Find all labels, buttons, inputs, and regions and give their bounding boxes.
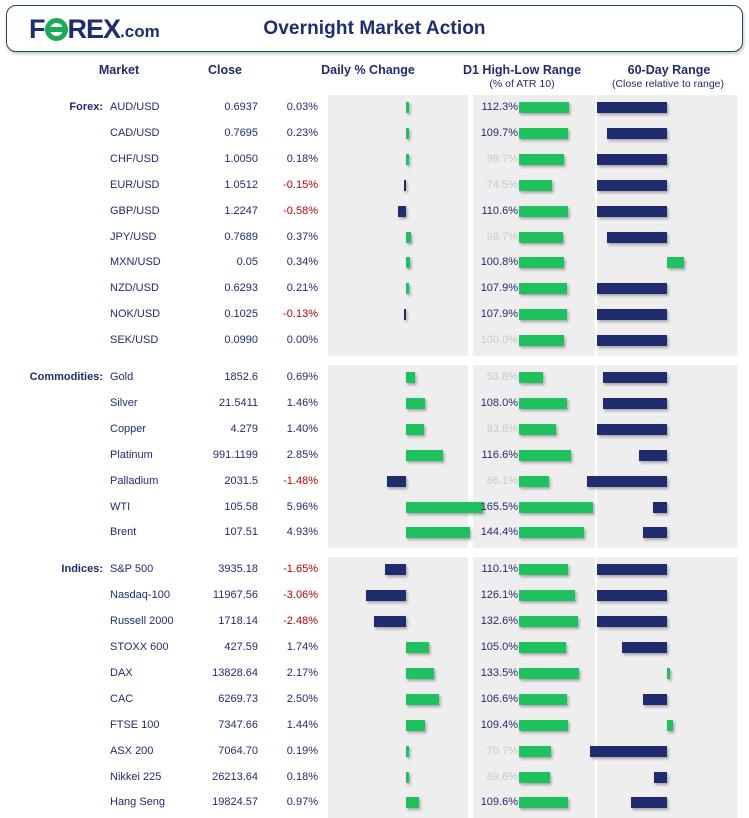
daily-change-bar: [406, 424, 424, 435]
sixty-day-range-bar: [597, 590, 667, 601]
market-name[interactable]: Brent: [110, 526, 136, 538]
d1-range-bar: [519, 746, 551, 757]
daily-change-bar: [385, 564, 406, 575]
daily-change-value: -1.48%: [266, 475, 318, 487]
market-name[interactable]: JPY/USD: [110, 231, 156, 243]
group-label: Commodities:: [3, 371, 103, 383]
d1-range-value: 98.7%: [474, 231, 518, 243]
sixty-day-range-bar: [603, 372, 667, 383]
daily-change-value: 1.46%: [266, 397, 318, 409]
column-header-market: Market: [78, 63, 160, 77]
d1-range-bar: [519, 283, 567, 294]
close-value: 7347.66: [188, 719, 258, 731]
sixty-day-range-bar: [653, 502, 667, 513]
daily-change-value: 4.93%: [266, 526, 318, 538]
daily-change-value: 0.34%: [266, 256, 318, 268]
d1-range-value: 83.8%: [474, 423, 518, 435]
d1-range-value: 109.4%: [474, 719, 518, 731]
close-value: 1718.14: [188, 615, 258, 627]
d1-range-value: 74.5%: [474, 179, 518, 191]
daily-change-bar: [406, 642, 429, 653]
daily-change-bar: [406, 746, 409, 757]
sixty-day-range-bar: [631, 797, 667, 808]
close-value: 6269.73: [188, 693, 258, 705]
close-value: 0.1025: [188, 308, 258, 320]
sixty-day-range-bar: [667, 668, 670, 679]
sixty-day-range-bar: [603, 398, 667, 409]
market-name[interactable]: AUD/USD: [110, 101, 160, 113]
close-value: 991.1199: [188, 449, 258, 461]
daily-change-value: -3.06%: [266, 589, 318, 601]
d1-range-value: 132.6%: [474, 615, 518, 627]
daily-change-bar: [404, 180, 407, 191]
daily-change-bar: [398, 206, 406, 217]
d1-range-bar: [519, 257, 564, 268]
d1-range-bar: [519, 424, 556, 435]
sixty-day-range-bar: [643, 694, 667, 705]
daily-change-value: 2.85%: [266, 449, 318, 461]
d1-range-bar: [519, 102, 569, 113]
daily-change-value: 2.17%: [266, 667, 318, 679]
market-name[interactable]: MXN/USD: [110, 256, 161, 268]
market-name[interactable]: FTSE 100: [110, 719, 160, 731]
d1-range-value: 110.1%: [474, 563, 518, 575]
d1-range-bar: [519, 772, 550, 783]
d1-range-value: 126.1%: [474, 589, 518, 601]
d1-range-bar: [519, 797, 568, 808]
d1-range-bar: [519, 206, 568, 217]
group-label: Indices:: [3, 563, 103, 575]
d1-range-value: 112.3%: [474, 101, 518, 113]
market-name[interactable]: Russell 2000: [110, 615, 174, 627]
sixty-day-range-bar: [597, 102, 667, 113]
market-name[interactable]: DAX: [110, 667, 133, 679]
d1-range-value: 53.8%: [474, 371, 518, 383]
close-value: 4.279: [188, 423, 258, 435]
close-value: 0.05: [188, 256, 258, 268]
d1-range-bar: [519, 527, 584, 538]
close-value: 107.51: [188, 526, 258, 538]
sixty-day-range-bar: [597, 154, 667, 165]
daily-change-bar: [406, 772, 409, 783]
close-value: 1.2247: [188, 205, 258, 217]
sixty-day-range-bar: [643, 527, 667, 538]
close-value: 1.0512: [188, 179, 258, 191]
daily-change-bar: [406, 232, 411, 243]
sixty-day-range-bar: [587, 476, 667, 487]
daily-change-value: 2.50%: [266, 693, 318, 705]
d1-range-bar: [519, 180, 552, 191]
d1-range-value: 109.7%: [474, 127, 518, 139]
chart-panel-background: [597, 365, 737, 548]
d1-range-value: 100.0%: [474, 334, 518, 346]
sixty-day-range-bar: [597, 309, 667, 320]
d1-range-bar: [519, 616, 578, 627]
market-name[interactable]: Palladium: [110, 475, 158, 487]
market-name[interactable]: CAD/USD: [110, 127, 160, 139]
market-name[interactable]: Nikkei 225: [110, 771, 161, 783]
sixty-day-range-bar: [597, 283, 667, 294]
column-subheader-d1: (% of ATR 10): [447, 78, 597, 90]
daily-change-bar: [404, 309, 407, 320]
market-name[interactable]: Platinum: [110, 449, 153, 461]
daily-change-value: 0.19%: [266, 745, 318, 757]
market-name[interactable]: Nasdaq-100: [110, 589, 170, 601]
chart-panel-background: [328, 95, 468, 356]
market-name[interactable]: NZD/USD: [110, 282, 159, 294]
daily-change-value: 5.96%: [266, 501, 318, 513]
d1-range-value: 105.0%: [474, 641, 518, 653]
market-name[interactable]: WTI: [110, 501, 130, 513]
daily-change-value: 0.03%: [266, 101, 318, 113]
overnight-market-action-page: FREX.com Overnight Market Action Market …: [0, 0, 749, 545]
market-name[interactable]: NOK/USD: [110, 308, 160, 320]
market-name[interactable]: CHF/USD: [110, 153, 159, 165]
d1-range-bar: [519, 335, 564, 346]
d1-range-value: 66.1%: [474, 475, 518, 487]
close-value: 19824.57: [188, 796, 258, 808]
sixty-day-range-bar: [597, 616, 667, 627]
daily-change-value: 0.23%: [266, 127, 318, 139]
daily-change-value: 1.40%: [266, 423, 318, 435]
sixty-day-range-bar: [654, 772, 667, 783]
daily-change-value: 0.00%: [266, 334, 318, 346]
daily-change-value: 1.44%: [266, 719, 318, 731]
d1-range-value: 116.6%: [474, 449, 518, 461]
close-value: 1.0050: [188, 153, 258, 165]
daily-change-value: -2.48%: [266, 615, 318, 627]
close-value: 0.7695: [188, 127, 258, 139]
d1-range-value: 133.5%: [474, 667, 518, 679]
daily-change-value: 0.18%: [266, 771, 318, 783]
column-subheader-60day: (Close relative to range): [588, 78, 748, 90]
d1-range-value: 107.9%: [474, 308, 518, 320]
daily-change-bar: [406, 154, 409, 165]
close-value: 0.7689: [188, 231, 258, 243]
d1-range-bar: [519, 564, 568, 575]
daily-change-bar: [387, 476, 406, 487]
daily-change-bar: [406, 502, 483, 513]
d1-range-bar: [519, 502, 593, 513]
d1-range-bar: [519, 154, 564, 165]
close-value: 0.6293: [188, 282, 258, 294]
daily-change-bar: [406, 128, 409, 139]
sixty-day-range-bar: [607, 232, 667, 243]
d1-range-value: 165.5%: [474, 501, 518, 513]
column-header-close: Close: [186, 63, 264, 77]
market-name[interactable]: Silver: [110, 397, 138, 409]
market-name[interactable]: Copper: [110, 423, 146, 435]
chart-panel-background: [328, 365, 468, 548]
column-header-daily: Daily % Change: [298, 63, 438, 77]
d1-range-bar: [519, 372, 543, 383]
d1-range-value: 108.0%: [474, 397, 518, 409]
close-value: 3935.18: [188, 563, 258, 575]
close-value: 0.0990: [188, 334, 258, 346]
market-name[interactable]: Gold: [110, 371, 133, 383]
daily-change-bar: [406, 398, 425, 409]
daily-change-bar: [406, 283, 409, 294]
market-name[interactable]: STOXX 600: [110, 641, 169, 653]
sixty-day-range-bar: [597, 335, 667, 346]
d1-range-value: 100.8%: [474, 256, 518, 268]
page-title: Overnight Market Action: [7, 18, 742, 40]
d1-range-bar: [519, 450, 571, 461]
d1-range-bar: [519, 642, 566, 653]
sixty-day-range-bar: [607, 128, 667, 139]
d1-range-value: 99.7%: [474, 153, 518, 165]
sixty-day-range-bar: [597, 180, 667, 191]
d1-range-value: 110.6%: [474, 205, 518, 217]
daily-change-bar: [406, 450, 443, 461]
d1-range-value: 107.9%: [474, 282, 518, 294]
sixty-day-range-bar: [667, 257, 684, 268]
d1-range-bar: [519, 309, 567, 320]
sixty-day-range-bar: [667, 720, 673, 731]
daily-change-bar: [406, 668, 434, 679]
group-label: Forex:: [3, 101, 103, 113]
d1-range-bar: [519, 476, 549, 487]
daily-change-value: 0.69%: [266, 371, 318, 383]
daily-change-value: 0.37%: [266, 231, 318, 243]
daily-change-bar: [406, 102, 409, 113]
daily-change-value: -0.13%: [266, 308, 318, 320]
sixty-day-range-bar: [597, 424, 667, 435]
market-name[interactable]: S&P 500: [110, 563, 153, 575]
market-name[interactable]: CAC: [110, 693, 133, 705]
close-value: 21.5411: [188, 397, 258, 409]
close-value: 1852.6: [188, 371, 258, 383]
market-name[interactable]: EUR/USD: [110, 179, 160, 191]
d1-range-bar: [519, 128, 568, 139]
daily-change-bar: [406, 257, 410, 268]
close-value: 0.6937: [188, 101, 258, 113]
market-name[interactable]: ASX 200: [110, 745, 153, 757]
daily-change-bar: [366, 590, 406, 601]
d1-range-value: 144.4%: [474, 526, 518, 538]
market-name[interactable]: GBP/USD: [110, 205, 160, 217]
daily-change-bar: [406, 372, 415, 383]
daily-change-bar: [406, 720, 425, 731]
d1-range-value: 69.6%: [474, 771, 518, 783]
d1-range-bar: [519, 720, 568, 731]
daily-change-bar: [406, 527, 470, 538]
daily-change-value: 1.74%: [266, 641, 318, 653]
daily-change-value: -1.65%: [266, 563, 318, 575]
d1-range-bar: [519, 590, 575, 601]
sixty-day-range-bar: [597, 206, 667, 217]
daily-change-bar: [406, 694, 439, 705]
d1-range-bar: [519, 668, 579, 679]
d1-range-bar: [519, 398, 567, 409]
sixty-day-range-bar: [597, 564, 667, 575]
close-value: 427.59: [188, 641, 258, 653]
daily-change-value: -0.58%: [266, 205, 318, 217]
daily-change-bar: [406, 797, 419, 808]
d1-range-value: 109.6%: [474, 796, 518, 808]
close-value: 7064.70: [188, 745, 258, 757]
d1-range-bar: [519, 694, 567, 705]
column-header-60day: 60-Day Range: [596, 63, 742, 77]
market-name[interactable]: SEK/USD: [110, 334, 158, 346]
close-value: 13828.64: [188, 667, 258, 679]
sixty-day-range-bar: [590, 746, 667, 757]
daily-change-value: 0.21%: [266, 282, 318, 294]
daily-change-value: 0.18%: [266, 153, 318, 165]
close-value: 2031.5: [188, 475, 258, 487]
d1-range-bar: [519, 232, 563, 243]
close-value: 26213.64: [188, 771, 258, 783]
market-name[interactable]: Hang Seng: [110, 796, 165, 808]
close-value: 105.58: [188, 501, 258, 513]
header-bar: FREX.com Overnight Market Action: [6, 5, 743, 52]
sixty-day-range-bar: [639, 450, 667, 461]
daily-change-value: -0.15%: [266, 179, 318, 191]
d1-range-value: 70.7%: [474, 745, 518, 757]
close-value: 11967.56: [188, 589, 258, 601]
d1-range-value: 106.6%: [474, 693, 518, 705]
daily-change-bar: [374, 616, 406, 627]
column-header-d1: D1 High-Low Range: [447, 63, 597, 77]
daily-change-value: 0.97%: [266, 796, 318, 808]
sixty-day-range-bar: [622, 642, 667, 653]
